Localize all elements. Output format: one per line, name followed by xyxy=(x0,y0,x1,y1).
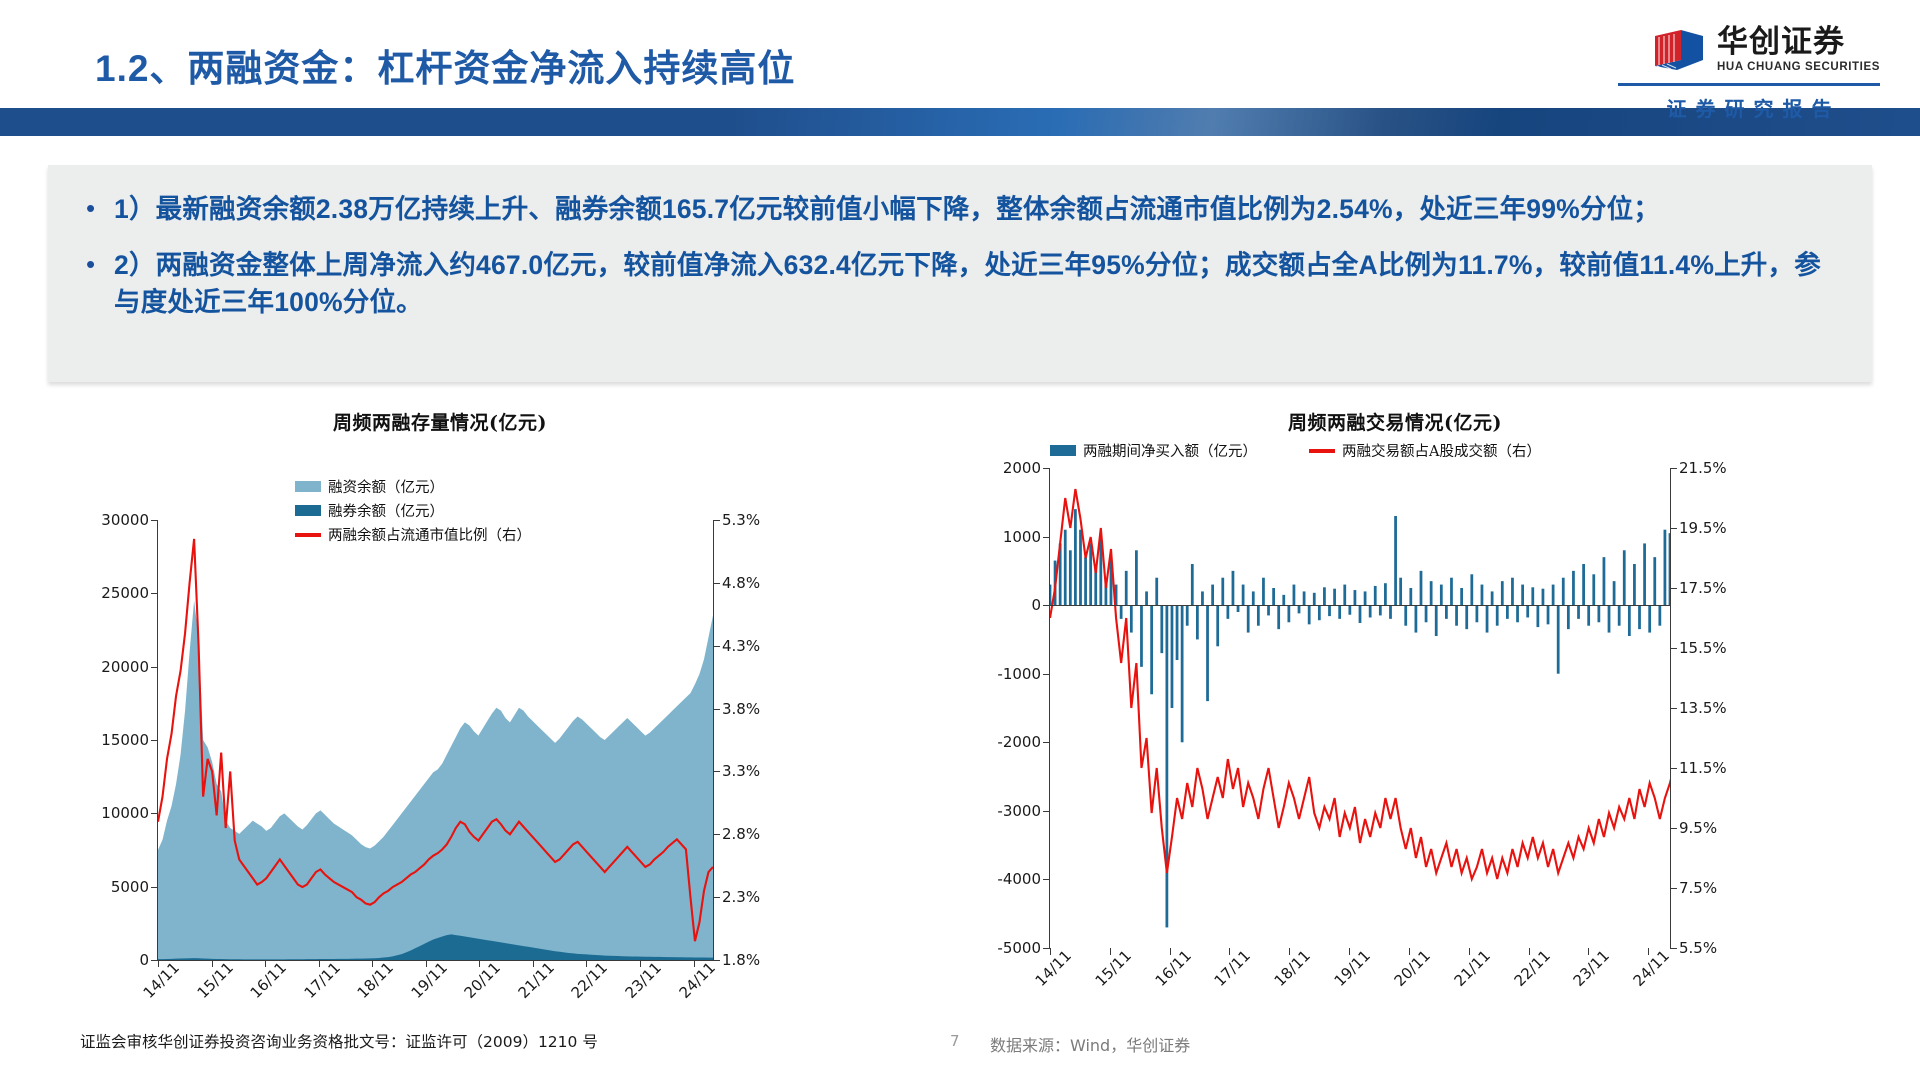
legend-line-icon xyxy=(1309,449,1335,453)
axis-tick xyxy=(372,960,373,967)
y2-axis-label: 3.8% xyxy=(722,700,760,718)
chart-left-plot: 0500010000150002000025000300001.8%2.3%2.… xyxy=(158,520,713,960)
logo-company-name-en: HUA CHUANG SECURITIES xyxy=(1717,61,1880,73)
axis-tick xyxy=(1043,879,1050,880)
legend-swatch-icon xyxy=(1050,445,1076,456)
y-axis-label: 20000 xyxy=(101,658,149,676)
logo-subtitle: 证券研究报告 xyxy=(1618,93,1880,122)
axis-tick xyxy=(479,960,480,967)
axis-tick xyxy=(1043,742,1050,743)
axis-tick xyxy=(151,667,158,668)
axis-tick xyxy=(151,520,158,521)
y-axis-label: 2000 xyxy=(1003,459,1041,477)
axis-tick xyxy=(1670,468,1677,469)
x-axis-label: 19/11 xyxy=(407,959,450,1002)
legend-item: 两融交易额占A股成交额（右） xyxy=(1309,440,1541,461)
x-axis-label: 19/11 xyxy=(1331,947,1374,990)
legend-item: 融券余额（亿元） xyxy=(295,500,531,521)
axis-tick xyxy=(1670,948,1677,949)
y2-axis-label: 9.5% xyxy=(1679,819,1717,837)
y2-axis-label: 19.5% xyxy=(1679,519,1727,537)
axis-tick xyxy=(1529,948,1530,955)
logo-divider xyxy=(1618,83,1880,86)
y2-axis-label: 4.8% xyxy=(722,574,760,592)
bullet-marker-icon: • xyxy=(86,247,96,322)
x-axis-label: 22/11 xyxy=(1510,947,1553,990)
legend-label: 两融交易额占A股成交额（右） xyxy=(1342,440,1541,461)
x-axis-label: 21/11 xyxy=(1450,947,1493,990)
axis-tick xyxy=(1670,648,1677,649)
axis-tick xyxy=(1670,708,1677,709)
axis-tick xyxy=(1043,948,1050,949)
axis-tick xyxy=(713,834,720,835)
y-axis-label: 30000 xyxy=(101,511,149,529)
x-axis-label: 24/11 xyxy=(675,959,718,1002)
summary-box: • 1）最新融资余额2.38万亿持续上升、融券余额165.7亿元较前值小幅下降，… xyxy=(48,165,1872,382)
y2-axis-label: 21.5% xyxy=(1679,459,1727,477)
y2-axis-label: 11.5% xyxy=(1679,759,1727,777)
bullet-marker-icon: • xyxy=(86,191,96,229)
summary-text-1: 1）最新融资余额2.38万亿持续上升、融券余额165.7亿元较前值小幅下降，整体… xyxy=(114,191,1660,229)
chart-right-plot: -5000-4000-3000-2000-10000100020005.5%7.… xyxy=(1050,468,1670,948)
chart-right: 周频两融交易情况(亿元) 两融期间净买入额（亿元） 两融交易额占A股成交额（右）… xyxy=(940,408,1870,888)
x-axis-label: 16/11 xyxy=(247,959,290,1002)
y-axis-label: 15000 xyxy=(101,731,149,749)
chart-right-title: 周频两融交易情况(亿元) xyxy=(920,408,1870,435)
axis-tick xyxy=(1409,948,1410,955)
chart-left-title: 周频两融存量情况(亿元) xyxy=(0,408,890,435)
y2-axis-label: 7.5% xyxy=(1679,879,1717,897)
axis-tick xyxy=(1110,948,1111,955)
axis-tick xyxy=(1289,948,1290,955)
axis-tick xyxy=(1670,888,1677,889)
page-title: 1.2、两融资金：杠杆资金净流入持续高位 xyxy=(95,38,795,92)
summary-text-2: 2）两融资金整体上周净流入约467.0亿元，较前值净流入632.4亿元下降，处近… xyxy=(114,247,1838,322)
chart-right-legend: 两融期间净买入额（亿元） 两融交易额占A股成交额（右） xyxy=(1050,440,1541,461)
chart-left: 周频两融存量情况(亿元) 融资余额（亿元） 融券余额（亿元） 两融余额占流通市值… xyxy=(50,408,890,888)
y2-axis-label: 2.3% xyxy=(722,888,760,906)
legend-item: 两融期间净买入额（亿元） xyxy=(1050,440,1257,461)
axis-tick xyxy=(713,771,720,772)
x-axis-label: 23/11 xyxy=(622,959,665,1002)
axis-tick xyxy=(1043,811,1050,812)
logo-mark-icon xyxy=(1651,26,1707,74)
y-axis-label: -1000 xyxy=(997,665,1041,683)
page-number: 7 xyxy=(950,1032,960,1050)
axis-tick xyxy=(1670,828,1677,829)
x-axis-label: 21/11 xyxy=(515,959,558,1002)
axis-tick xyxy=(713,960,720,961)
y2-axis-label: 17.5% xyxy=(1679,579,1727,597)
summary-bullet-2: • 2）两融资金整体上周净流入约467.0亿元，较前值净流入632.4亿元下降，… xyxy=(82,247,1838,322)
axis-spine xyxy=(1050,605,1670,606)
axis-tick xyxy=(586,960,587,967)
x-axis-label: 18/11 xyxy=(1271,947,1314,990)
y-axis-label: -2000 xyxy=(997,733,1041,751)
y-axis-label: 25000 xyxy=(101,584,149,602)
axis-tick xyxy=(151,740,158,741)
axis-tick xyxy=(713,520,720,521)
x-axis-label: 18/11 xyxy=(354,959,397,1002)
axis-tick xyxy=(1349,948,1350,955)
y-axis-label: 10000 xyxy=(101,804,149,822)
x-axis-label: 20/11 xyxy=(461,959,504,1002)
axis-tick xyxy=(1043,674,1050,675)
axis-tick xyxy=(533,960,534,967)
y2-axis-label: 3.3% xyxy=(722,762,760,780)
axis-spine xyxy=(713,520,714,960)
company-logo: 华创证券 HUA CHUANG SECURITIES 证券研究报告 xyxy=(1580,26,1880,126)
y-axis-label: -3000 xyxy=(997,802,1041,820)
logo-company-name-cn: 华创证券 xyxy=(1717,27,1880,58)
axis-tick xyxy=(151,960,158,961)
axis-tick xyxy=(694,960,695,967)
x-axis-label: 16/11 xyxy=(1151,947,1194,990)
axis-tick xyxy=(640,960,641,967)
x-axis-label: 23/11 xyxy=(1570,947,1613,990)
axis-tick xyxy=(151,593,158,594)
y2-axis-label: 1.8% xyxy=(722,951,760,969)
axis-tick xyxy=(1670,768,1677,769)
y-axis-label: 0 xyxy=(139,951,149,969)
x-axis-label: 15/11 xyxy=(193,959,236,1002)
y2-axis-label: 5.5% xyxy=(1679,939,1717,957)
x-axis-label: 17/11 xyxy=(300,959,343,1002)
footer-source: 数据来源：Wind，华创证券 xyxy=(990,1032,1190,1056)
axis-tick xyxy=(1043,468,1050,469)
axis-tick xyxy=(158,960,159,967)
axis-tick xyxy=(713,709,720,710)
y-axis-label: 5000 xyxy=(111,878,149,896)
y2-axis-label: 5.3% xyxy=(722,511,760,529)
summary-bullet-1: • 1）最新融资余额2.38万亿持续上升、融券余额165.7亿元较前值小幅下降，… xyxy=(82,191,1838,229)
axis-tick xyxy=(1588,948,1589,955)
axis-tick xyxy=(1229,948,1230,955)
legend-label: 两融期间净买入额（亿元） xyxy=(1083,440,1257,461)
legend-item: 融资余额（亿元） xyxy=(295,476,531,497)
y2-axis-label: 13.5% xyxy=(1679,699,1727,717)
axis-tick xyxy=(426,960,427,967)
x-axis-label: 22/11 xyxy=(568,959,611,1002)
y-axis-label: -5000 xyxy=(997,939,1041,957)
legend-label: 融券余额（亿元） xyxy=(328,500,444,521)
page-header: 1.2、两融资金：杠杆资金净流入持续高位 xyxy=(0,0,1920,150)
y-axis-label: -4000 xyxy=(997,870,1041,888)
axis-tick xyxy=(151,813,158,814)
x-axis-label: 15/11 xyxy=(1091,947,1134,990)
x-axis-label: 24/11 xyxy=(1630,947,1673,990)
axis-tick xyxy=(713,646,720,647)
y-axis-label: 1000 xyxy=(1003,528,1041,546)
legend-swatch-icon xyxy=(295,481,321,492)
axis-tick xyxy=(1670,588,1677,589)
axis-tick xyxy=(1043,605,1050,606)
axis-tick xyxy=(319,960,320,967)
y2-axis-label: 4.3% xyxy=(722,637,760,655)
axis-tick xyxy=(1648,948,1649,955)
x-axis-label: 17/11 xyxy=(1211,947,1254,990)
x-axis-label: 20/11 xyxy=(1391,947,1434,990)
y2-axis-label: 2.8% xyxy=(722,825,760,843)
y2-axis-label: 15.5% xyxy=(1679,639,1727,657)
legend-label: 融资余额（亿元） xyxy=(328,476,444,497)
axis-tick xyxy=(1170,948,1171,955)
axis-tick xyxy=(212,960,213,967)
axis-tick xyxy=(713,897,720,898)
axis-tick xyxy=(1469,948,1470,955)
axis-tick xyxy=(713,583,720,584)
axis-tick xyxy=(151,887,158,888)
axis-tick xyxy=(1670,528,1677,529)
axis-tick xyxy=(1043,537,1050,538)
footer-disclaimer: 证监会审核华创证券投资咨询业务资格批文号：证监许可（2009）1210 号 xyxy=(80,1030,598,1052)
axis-tick xyxy=(265,960,266,967)
legend-swatch-icon xyxy=(295,505,321,516)
y-axis-label: 0 xyxy=(1031,596,1041,614)
axis-tick xyxy=(1050,948,1051,955)
axis-spine xyxy=(1049,468,1050,948)
